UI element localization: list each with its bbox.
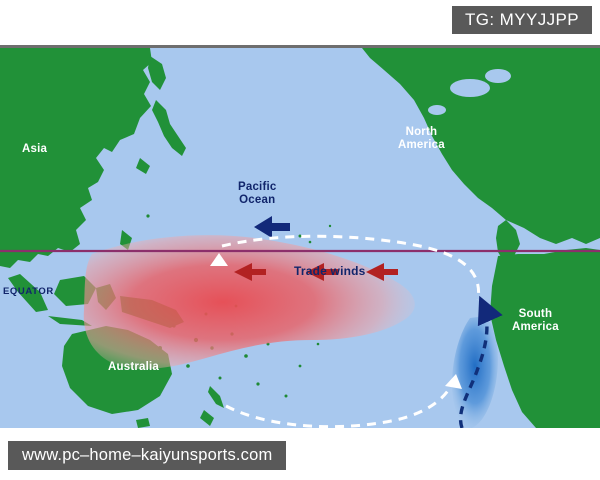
screenshot-root: TG: MYYJJPP	[0, 0, 600, 480]
map-figure: Asia North America South America Austral…	[0, 45, 600, 428]
map-canvas	[0, 48, 600, 428]
site-watermark: www.pc–home–kaiyunsports.com	[8, 441, 286, 471]
tg-tag-badge: TG: MYYJJPP	[452, 6, 592, 34]
